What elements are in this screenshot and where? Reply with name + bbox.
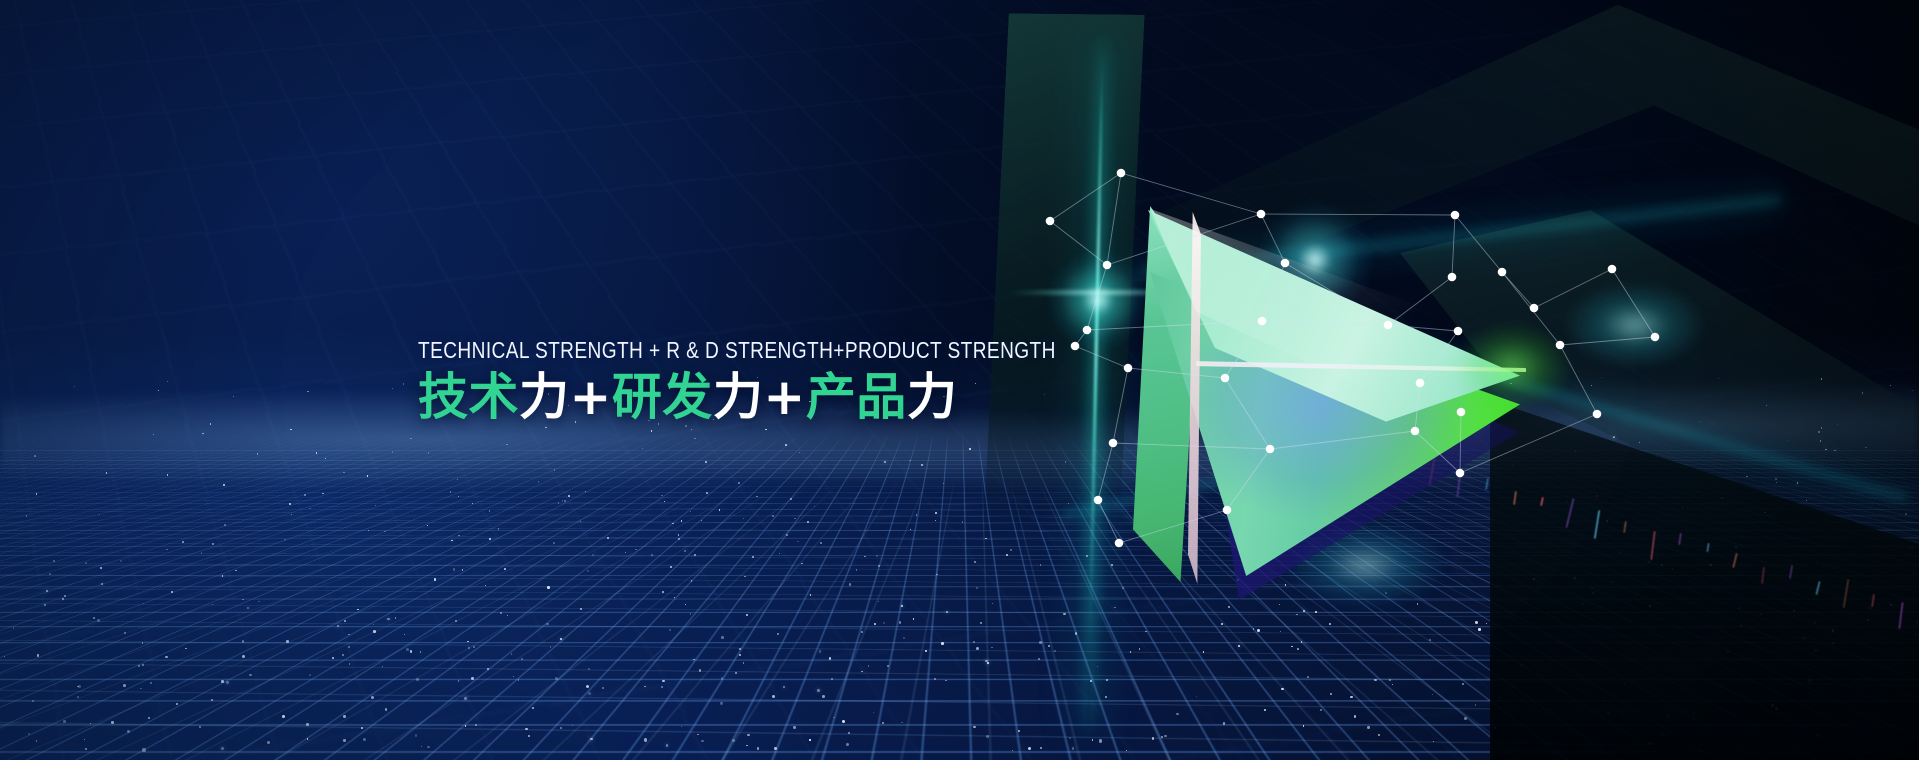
- network-node: [1556, 341, 1565, 350]
- network-edge: [1460, 412, 1461, 473]
- network-edge: [1107, 214, 1261, 265]
- network-node: [1109, 439, 1118, 448]
- network-node: [1046, 217, 1055, 226]
- network-node: [1257, 210, 1266, 219]
- title-segment-4: 力: [713, 368, 764, 426]
- network-edge: [1262, 263, 1285, 321]
- network-edge: [1612, 269, 1655, 337]
- network-node: [1530, 304, 1539, 313]
- network-edge: [1261, 214, 1285, 263]
- network-edge: [1227, 449, 1270, 510]
- title-segment-2: +: [570, 368, 612, 426]
- network-node: [1411, 427, 1420, 436]
- network-edge: [1098, 500, 1119, 543]
- network-edge: [1107, 173, 1121, 265]
- network-node: [1103, 261, 1112, 270]
- network-node: [1457, 408, 1466, 417]
- hero-banner: TECHNICAL STRENGTH + R & D STRENGTH+PROD…: [0, 0, 1919, 760]
- network-node: [1094, 496, 1103, 505]
- network-edge: [1560, 345, 1597, 414]
- title-segment-0: 技术: [418, 368, 519, 426]
- network-edge: [1098, 443, 1113, 500]
- network-edge: [1455, 215, 1502, 272]
- network-edge: [1388, 277, 1452, 325]
- network-edge: [1119, 510, 1227, 543]
- title-segment-3: 研发: [612, 368, 713, 426]
- network-node: [1221, 374, 1230, 383]
- network-node: [1258, 317, 1267, 326]
- network-edge: [1087, 265, 1107, 330]
- title-segment-7: 力: [907, 368, 958, 426]
- network-node: [1281, 259, 1290, 268]
- network-node: [1498, 268, 1507, 277]
- network-edge: [1225, 378, 1270, 449]
- network-edge: [1420, 331, 1458, 383]
- subtitle-english: TECHNICAL STRENGTH + R & D STRENGTH+PROD…: [418, 338, 1056, 362]
- network-edge: [1121, 173, 1261, 214]
- headline-block: TECHNICAL STRENGTH + R & D STRENGTH+PROD…: [418, 338, 1186, 425]
- network-edge: [1262, 321, 1388, 325]
- network-node: [1083, 326, 1092, 335]
- network-node: [1117, 169, 1126, 178]
- network-node: [1593, 410, 1602, 419]
- network-node: [1266, 445, 1275, 454]
- title-segment-5: +: [763, 368, 805, 426]
- network-edge: [1560, 337, 1655, 345]
- network-edge: [1050, 173, 1121, 221]
- network-edge: [1270, 431, 1415, 449]
- title-segment-1: 力: [519, 368, 570, 426]
- network-edge: [1534, 269, 1612, 308]
- network-edge: [1087, 321, 1262, 330]
- network-node: [1608, 265, 1617, 274]
- network-node: [1223, 506, 1232, 515]
- network-node: [1456, 469, 1465, 478]
- title-segment-6: 产品: [806, 368, 907, 426]
- page-title: 技术力+研发力+产品力: [418, 369, 1186, 425]
- network-edge: [1113, 443, 1270, 449]
- network-edge: [1285, 263, 1388, 325]
- network-edge: [1452, 215, 1455, 277]
- network-edge: [1261, 214, 1455, 215]
- network-edge: [1388, 325, 1458, 331]
- network-node: [1451, 211, 1460, 220]
- network-node: [1448, 273, 1457, 282]
- network-edge: [1225, 321, 1262, 378]
- network-node: [1651, 333, 1660, 342]
- network-node: [1384, 321, 1393, 330]
- network-node: [1416, 379, 1425, 388]
- network-edge: [1415, 383, 1420, 431]
- network-node: [1115, 539, 1124, 548]
- network-node: [1454, 327, 1463, 336]
- network-edge: [1460, 414, 1597, 473]
- network-edge: [1050, 221, 1107, 265]
- network-edge: [1415, 431, 1460, 473]
